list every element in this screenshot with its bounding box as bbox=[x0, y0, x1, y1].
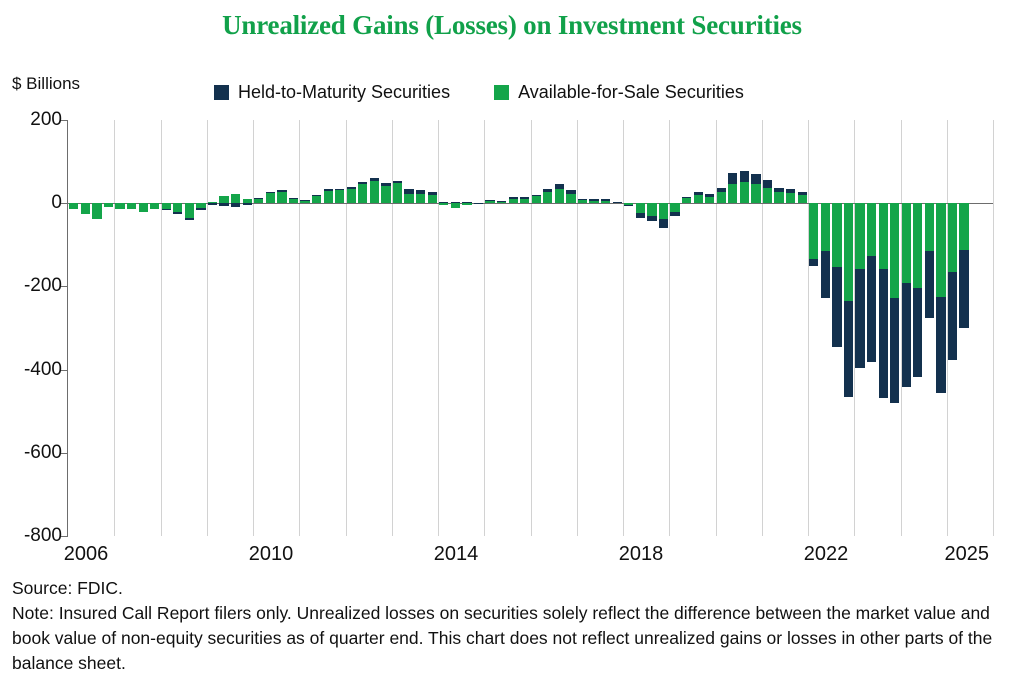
bar-segment-htm bbox=[520, 197, 529, 199]
bar-2008Q1 bbox=[162, 120, 171, 536]
bar-segment-afs bbox=[532, 196, 541, 203]
bar-segment-afs bbox=[717, 192, 726, 203]
bar-2023Q1 bbox=[855, 120, 864, 536]
bar-segment-afs bbox=[925, 203, 934, 250]
bar-2019Q3 bbox=[694, 120, 703, 536]
y-axis-label--200: -200 bbox=[24, 275, 62, 297]
bar-2013Q3 bbox=[416, 120, 425, 536]
bar-2012Q3 bbox=[370, 120, 379, 536]
bar-segment-htm bbox=[289, 198, 298, 199]
bar-2010Q2 bbox=[266, 120, 275, 536]
bar-segment-htm bbox=[647, 216, 656, 222]
bar-segment-htm bbox=[948, 272, 957, 360]
bar-2012Q4 bbox=[381, 120, 390, 536]
y-axis-line bbox=[67, 120, 68, 536]
bar-segment-afs bbox=[474, 203, 483, 204]
bar-2024Q2 bbox=[913, 120, 922, 536]
bar-segment-afs bbox=[347, 189, 356, 203]
bar-segment-afs bbox=[370, 181, 379, 203]
bar-segment-htm bbox=[694, 192, 703, 195]
x-axis-label-2022: 2022 bbox=[804, 543, 849, 566]
bar-2018Q2 bbox=[636, 120, 645, 536]
bar-segment-htm bbox=[566, 190, 575, 194]
bar-segment-afs bbox=[659, 203, 668, 219]
bar-segment-afs bbox=[231, 194, 240, 203]
chart-root: Unrealized Gains (Losses) on Investment … bbox=[0, 0, 1024, 696]
bar-segment-afs bbox=[705, 197, 714, 204]
bar-2018Q4 bbox=[659, 120, 668, 536]
bar-segment-htm bbox=[867, 256, 876, 362]
bar-segment-afs bbox=[809, 203, 818, 259]
bar-segment-htm bbox=[855, 269, 864, 367]
bar-segment-afs bbox=[381, 186, 390, 203]
legend-item-afs[interactable]: Available-for-Sale Securities bbox=[494, 82, 744, 103]
bar-segment-afs bbox=[150, 203, 159, 208]
bar-segment-htm bbox=[358, 182, 367, 184]
bar-segment-afs bbox=[855, 203, 864, 269]
bar-segment-htm bbox=[497, 201, 506, 202]
bar-segment-htm bbox=[774, 188, 783, 191]
bar-2010Q3 bbox=[277, 120, 286, 536]
bar-2013Q1 bbox=[393, 120, 402, 536]
plot-area bbox=[68, 120, 993, 536]
bar-segment-afs bbox=[497, 202, 506, 203]
bar-segment-afs bbox=[566, 194, 575, 204]
bar-segment-afs bbox=[393, 183, 402, 203]
bar-2008Q4 bbox=[196, 120, 205, 536]
bar-2010Q1 bbox=[254, 120, 263, 536]
bar-segment-afs bbox=[485, 201, 494, 203]
bar-2019Q2 bbox=[682, 120, 691, 536]
bar-segment-afs bbox=[543, 192, 552, 204]
bar-segment-afs bbox=[798, 195, 807, 203]
bar-segment-htm bbox=[266, 192, 275, 193]
bar-2015Q4 bbox=[520, 120, 529, 536]
bar-segment-htm bbox=[879, 269, 888, 398]
bar-segment-afs bbox=[601, 201, 610, 203]
bar-segment-htm bbox=[925, 251, 934, 318]
bar-segment-htm bbox=[578, 199, 587, 200]
bar-2022Q4 bbox=[844, 120, 853, 536]
bar-2011Q2 bbox=[312, 120, 321, 536]
x-axis-label-2010: 2010 bbox=[249, 543, 294, 566]
bar-2022Q3 bbox=[832, 120, 841, 536]
bar-segment-afs bbox=[879, 203, 888, 269]
bar-segment-htm bbox=[728, 173, 737, 184]
bar-segment-afs bbox=[774, 192, 783, 204]
bar-2007Q1 bbox=[115, 120, 124, 536]
bar-segment-htm bbox=[243, 203, 252, 205]
x-axis-label-2006: 2006 bbox=[64, 543, 109, 566]
bar-segment-afs bbox=[670, 203, 679, 212]
x-axis-label-2018: 2018 bbox=[619, 543, 664, 566]
bar-segment-htm bbox=[543, 189, 552, 191]
bar-2015Q2 bbox=[497, 120, 506, 536]
bar-segment-htm bbox=[832, 267, 841, 346]
note-text: Note: Insured Call Report filers only. U… bbox=[12, 601, 1012, 676]
footnotes: Source: FDIC. Note: Insured Call Report … bbox=[12, 576, 1012, 676]
bar-segment-afs bbox=[555, 189, 564, 204]
bar-2020Q4 bbox=[751, 120, 760, 536]
bar-2020Q2 bbox=[728, 120, 737, 536]
bar-2007Q3 bbox=[139, 120, 148, 536]
bar-segment-htm bbox=[381, 183, 390, 185]
bar-2007Q4 bbox=[150, 120, 159, 536]
bar-segment-afs bbox=[104, 203, 113, 206]
y-tick--600 bbox=[61, 453, 68, 454]
bar-segment-htm bbox=[312, 195, 321, 196]
bar-segment-htm bbox=[277, 190, 286, 191]
legend-item-htm[interactable]: Held-to-Maturity Securities bbox=[214, 82, 450, 103]
bar-segment-afs bbox=[647, 203, 656, 215]
bar-2011Q4 bbox=[335, 120, 344, 536]
bar-segment-htm bbox=[601, 199, 610, 200]
bar-2021Q2 bbox=[774, 120, 783, 536]
bar-segment-htm bbox=[462, 202, 471, 203]
bar-segment-afs bbox=[832, 203, 841, 267]
bar-segment-afs bbox=[404, 194, 413, 203]
bar-2013Q2 bbox=[404, 120, 413, 536]
bar-segment-htm bbox=[936, 297, 945, 393]
bar-2014Q2 bbox=[451, 120, 460, 536]
bar-segment-htm bbox=[821, 251, 830, 298]
bar-2014Q1 bbox=[439, 120, 448, 536]
bar-segment-htm bbox=[786, 189, 795, 193]
bar-segment-htm bbox=[173, 212, 182, 213]
y-tick--400 bbox=[61, 370, 68, 371]
bar-2009Q2 bbox=[219, 120, 228, 536]
bar-segment-afs bbox=[890, 203, 899, 297]
bar-segment-htm bbox=[347, 187, 356, 189]
y-axis-unit-label: $ Billions bbox=[12, 74, 80, 94]
y-axis-label-200: 200 bbox=[30, 109, 62, 131]
bar-2008Q2 bbox=[173, 120, 182, 536]
bar-segment-afs bbox=[589, 201, 598, 203]
bar-segment-afs bbox=[416, 194, 425, 203]
bar-segment-afs bbox=[127, 203, 136, 208]
bar-segment-afs bbox=[636, 203, 645, 213]
bar-segment-afs bbox=[173, 203, 182, 212]
bar-segment-htm bbox=[589, 199, 598, 200]
bar-2025Q2 bbox=[959, 120, 968, 536]
bar-2011Q1 bbox=[300, 120, 309, 536]
bar-segment-afs bbox=[751, 184, 760, 204]
bar-segment-htm bbox=[670, 212, 679, 217]
bar-2017Q4 bbox=[613, 120, 622, 536]
bar-segment-afs bbox=[312, 196, 321, 203]
bar-segment-afs bbox=[520, 199, 529, 204]
source-text: Source: FDIC. bbox=[12, 576, 1012, 601]
bar-segment-afs bbox=[92, 203, 101, 219]
legend-label-htm: Held-to-Maturity Securities bbox=[238, 82, 450, 103]
bar-2023Q3 bbox=[879, 120, 888, 536]
legend-swatch-htm-icon bbox=[214, 85, 229, 100]
bar-segment-afs bbox=[728, 184, 737, 204]
bar-segment-afs bbox=[81, 203, 90, 213]
bar-segment-htm bbox=[208, 203, 217, 205]
bar-segment-afs bbox=[902, 203, 911, 283]
bar-segment-afs bbox=[867, 203, 876, 256]
bar-segment-htm bbox=[705, 194, 714, 196]
bar-2017Q1 bbox=[578, 120, 587, 536]
x-axis-labels: 200620102014201820222025 bbox=[0, 541, 1024, 571]
bar-segment-htm bbox=[393, 181, 402, 183]
bar-2015Q1 bbox=[485, 120, 494, 536]
bar-segment-afs bbox=[694, 195, 703, 203]
bar-segment-afs bbox=[763, 188, 772, 203]
bar-2018Q3 bbox=[647, 120, 656, 536]
zero-baseline bbox=[68, 203, 993, 204]
bar-segment-afs bbox=[428, 195, 437, 203]
bar-segment-htm bbox=[751, 174, 760, 184]
legend-swatch-afs-icon bbox=[494, 85, 509, 100]
bar-2022Q2 bbox=[821, 120, 830, 536]
bar-segment-afs bbox=[335, 190, 344, 203]
bar-2008Q3 bbox=[185, 120, 194, 536]
bar-segment-afs bbox=[266, 193, 275, 203]
bar-segment-htm bbox=[809, 259, 818, 266]
bar-segment-htm bbox=[335, 189, 344, 191]
bar-2007Q2 bbox=[127, 120, 136, 536]
bar-segment-htm bbox=[428, 192, 437, 196]
chart-legend: Held-to-Maturity Securities Available-fo… bbox=[214, 82, 744, 103]
bar-segment-htm bbox=[913, 288, 922, 377]
y-tick-0 bbox=[61, 203, 68, 204]
bar-segment-afs bbox=[948, 203, 957, 272]
bar-segment-afs bbox=[682, 198, 691, 203]
bar-segment-htm bbox=[439, 202, 448, 203]
bar-segment-afs bbox=[578, 200, 587, 203]
bar-2006Q1 bbox=[69, 120, 78, 536]
bar-2024Q1 bbox=[902, 120, 911, 536]
bar-2019Q4 bbox=[705, 120, 714, 536]
bar-segment-afs bbox=[185, 203, 194, 218]
bar-segment-htm bbox=[890, 298, 899, 404]
bar-segment-htm bbox=[185, 218, 194, 220]
bar-segment-htm bbox=[162, 209, 171, 210]
bar-2021Q4 bbox=[798, 120, 807, 536]
y-tick--200 bbox=[61, 286, 68, 287]
bar-2020Q3 bbox=[740, 120, 749, 536]
bar-segment-afs bbox=[219, 196, 228, 203]
bar-2020Q1 bbox=[717, 120, 726, 536]
bar-segment-afs bbox=[358, 184, 367, 203]
bar-segment-afs bbox=[439, 203, 448, 205]
bar-2023Q4 bbox=[890, 120, 899, 536]
bar-segment-afs bbox=[913, 203, 922, 287]
bar-segment-htm bbox=[959, 250, 968, 327]
bar-segment-afs bbox=[115, 203, 124, 209]
bar-2023Q2 bbox=[867, 120, 876, 536]
bar-segment-htm bbox=[659, 219, 668, 228]
bar-segment-htm bbox=[509, 197, 518, 199]
bar-2009Q3 bbox=[231, 120, 240, 536]
bar-segment-afs bbox=[139, 203, 148, 212]
bar-segment-htm bbox=[324, 189, 333, 191]
bar-segment-htm bbox=[682, 197, 691, 199]
bar-2013Q4 bbox=[428, 120, 437, 536]
bar-2009Q4 bbox=[243, 120, 252, 536]
bar-2012Q2 bbox=[358, 120, 367, 536]
bar-2021Q1 bbox=[763, 120, 772, 536]
bar-segment-afs bbox=[844, 203, 853, 301]
bar-segment-htm bbox=[902, 283, 911, 387]
bar-segment-htm bbox=[717, 188, 726, 192]
bar-2006Q2 bbox=[81, 120, 90, 536]
bar-segment-afs bbox=[254, 198, 263, 203]
bar-segment-htm bbox=[555, 184, 564, 188]
y-axis-label--600: -600 bbox=[24, 442, 62, 464]
bar-segment-afs bbox=[613, 202, 622, 203]
x-axis-label-2025: 2025 bbox=[945, 543, 990, 566]
bar-2024Q3 bbox=[925, 120, 934, 536]
y-axis-label--400: -400 bbox=[24, 359, 62, 381]
bar-2017Q3 bbox=[601, 120, 610, 536]
bar-segment-afs bbox=[959, 203, 968, 250]
gridline-year-2026 bbox=[993, 120, 994, 536]
bar-segment-afs bbox=[936, 203, 945, 297]
bar-segment-htm bbox=[844, 301, 853, 397]
bar-segment-afs bbox=[277, 192, 286, 204]
bar-segment-htm bbox=[451, 202, 460, 203]
y-tick--800 bbox=[61, 536, 68, 537]
bar-segment-htm bbox=[636, 213, 645, 218]
bar-2006Q3 bbox=[92, 120, 101, 536]
bar-2012Q1 bbox=[347, 120, 356, 536]
bar-segment-htm bbox=[231, 203, 240, 206]
bar-segment-afs bbox=[300, 200, 309, 203]
bar-segment-htm bbox=[798, 192, 807, 195]
bar-2017Q2 bbox=[589, 120, 598, 536]
bar-2022Q1 bbox=[809, 120, 818, 536]
bar-2025Q1 bbox=[948, 120, 957, 536]
bar-2014Q3 bbox=[462, 120, 471, 536]
bar-2021Q3 bbox=[786, 120, 795, 536]
bar-segment-afs bbox=[740, 182, 749, 203]
bar-segment-afs bbox=[821, 203, 830, 251]
bar-segment-afs bbox=[289, 199, 298, 204]
bar-2011Q3 bbox=[324, 120, 333, 536]
bar-segment-htm bbox=[196, 208, 205, 210]
bar-2015Q3 bbox=[509, 120, 518, 536]
bar-segment-afs bbox=[451, 203, 460, 208]
bar-2019Q1 bbox=[670, 120, 679, 536]
bar-segment-afs bbox=[324, 191, 333, 203]
bar-2016Q1 bbox=[532, 120, 541, 536]
bar-2016Q3 bbox=[555, 120, 564, 536]
bar-segment-htm bbox=[416, 190, 425, 194]
bar-2006Q4 bbox=[104, 120, 113, 536]
x-axis-label-2014: 2014 bbox=[434, 543, 479, 566]
legend-label-afs: Available-for-Sale Securities bbox=[518, 82, 744, 103]
bar-2009Q1 bbox=[208, 120, 217, 536]
bar-2014Q4 bbox=[474, 120, 483, 536]
bar-segment-htm bbox=[404, 189, 413, 194]
bar-segment-afs bbox=[462, 203, 471, 205]
y-axis-labels: 2000-200-400-600-800 bbox=[0, 120, 62, 536]
bar-segment-afs bbox=[69, 203, 78, 209]
bar-segment-htm bbox=[740, 171, 749, 182]
bar-segment-afs bbox=[509, 199, 518, 204]
bar-segment-htm bbox=[763, 180, 772, 188]
bar-segment-htm bbox=[532, 195, 541, 196]
bar-2010Q4 bbox=[289, 120, 298, 536]
bar-2016Q4 bbox=[566, 120, 575, 536]
bar-2018Q1 bbox=[624, 120, 633, 536]
bar-segment-afs bbox=[786, 193, 795, 203]
bar-segment-htm bbox=[370, 178, 379, 181]
page-title: Unrealized Gains (Losses) on Investment … bbox=[0, 10, 1024, 41]
bar-2024Q4 bbox=[936, 120, 945, 536]
bar-2016Q2 bbox=[543, 120, 552, 536]
y-tick-200 bbox=[61, 120, 68, 121]
bar-segment-htm bbox=[219, 203, 228, 205]
